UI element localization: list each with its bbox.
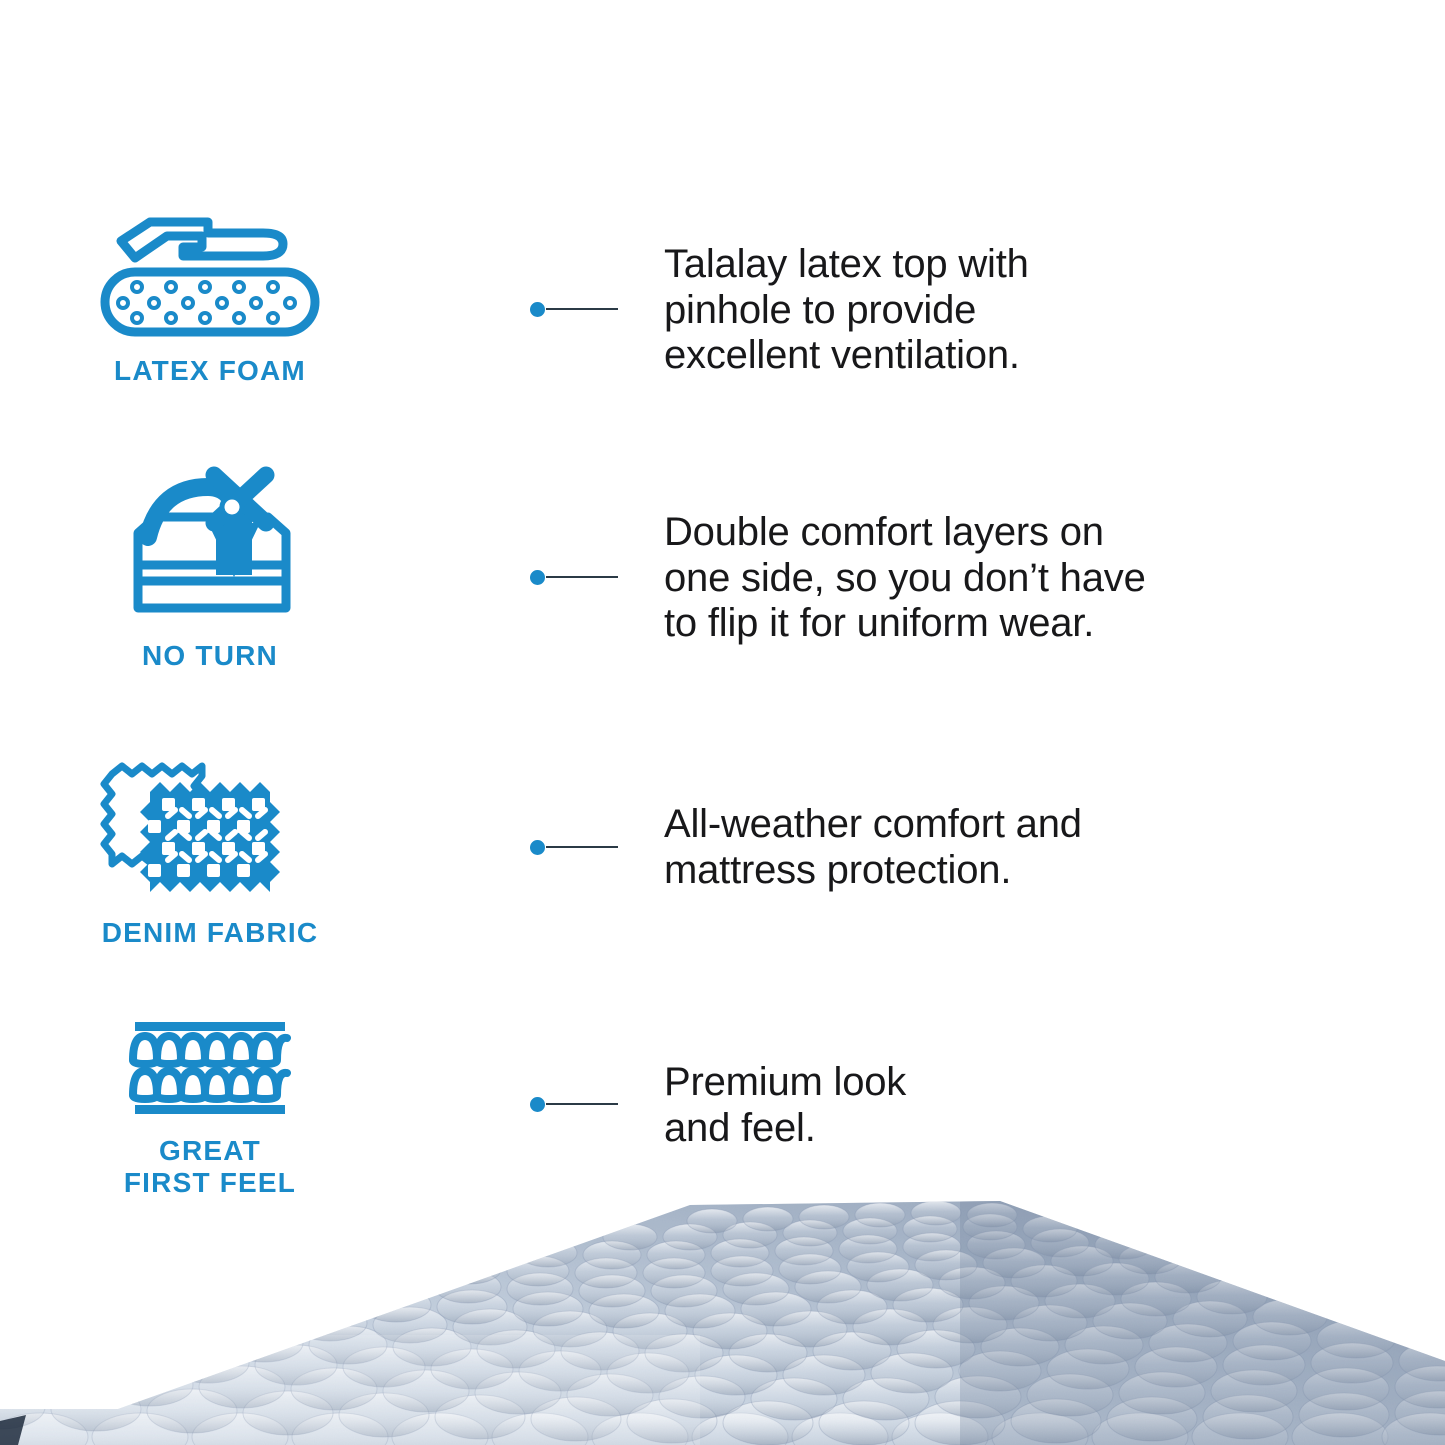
feature-icon-column: NO TURN [0, 465, 420, 672]
no-turn-icon [108, 465, 313, 630]
connector-great-first-feel [530, 1095, 618, 1113]
feature-description-denim-fabric: All-weather comfort and mattress protect… [664, 802, 1144, 893]
feature-icon-column: DENIM FABRIC [0, 752, 420, 949]
feature-description-no-turn: Double comfort layers on one side, so yo… [664, 510, 1184, 647]
feature-icon-column: GREAT FIRST FEEL [0, 1015, 420, 1200]
latex-foam-icon [95, 200, 325, 345]
connector-no-turn [530, 568, 618, 586]
great-first-feel-icon [125, 1015, 295, 1125]
connector-line [546, 576, 618, 578]
product-feature-infographic: LATEX FOAM Talalay latex top with pinhol… [0, 0, 1445, 1445]
connector-line [546, 846, 618, 848]
feature-caption: NO TURN [142, 640, 278, 672]
connector-dot [530, 840, 545, 855]
feature-description-latex-foam: Talalay latex top with pinhole to provid… [664, 242, 1114, 379]
connector-dot [530, 1097, 545, 1112]
connector-dot [530, 570, 545, 585]
quilted-denim-mattress-corner [0, 1185, 1445, 1445]
feature-caption: LATEX FOAM [114, 355, 306, 387]
connector-dot [530, 302, 545, 317]
feature-icon-column: LATEX FOAM [0, 200, 420, 387]
denim-fabric-icon [90, 752, 330, 907]
connector-denim-fabric [530, 838, 618, 856]
feature-caption: DENIM FABRIC [102, 917, 319, 949]
connector-line [546, 1103, 618, 1105]
connector-line [546, 308, 618, 310]
connector-latex-foam [530, 300, 618, 318]
feature-description-great-first-feel: Premium look and feel. [664, 1060, 1064, 1151]
